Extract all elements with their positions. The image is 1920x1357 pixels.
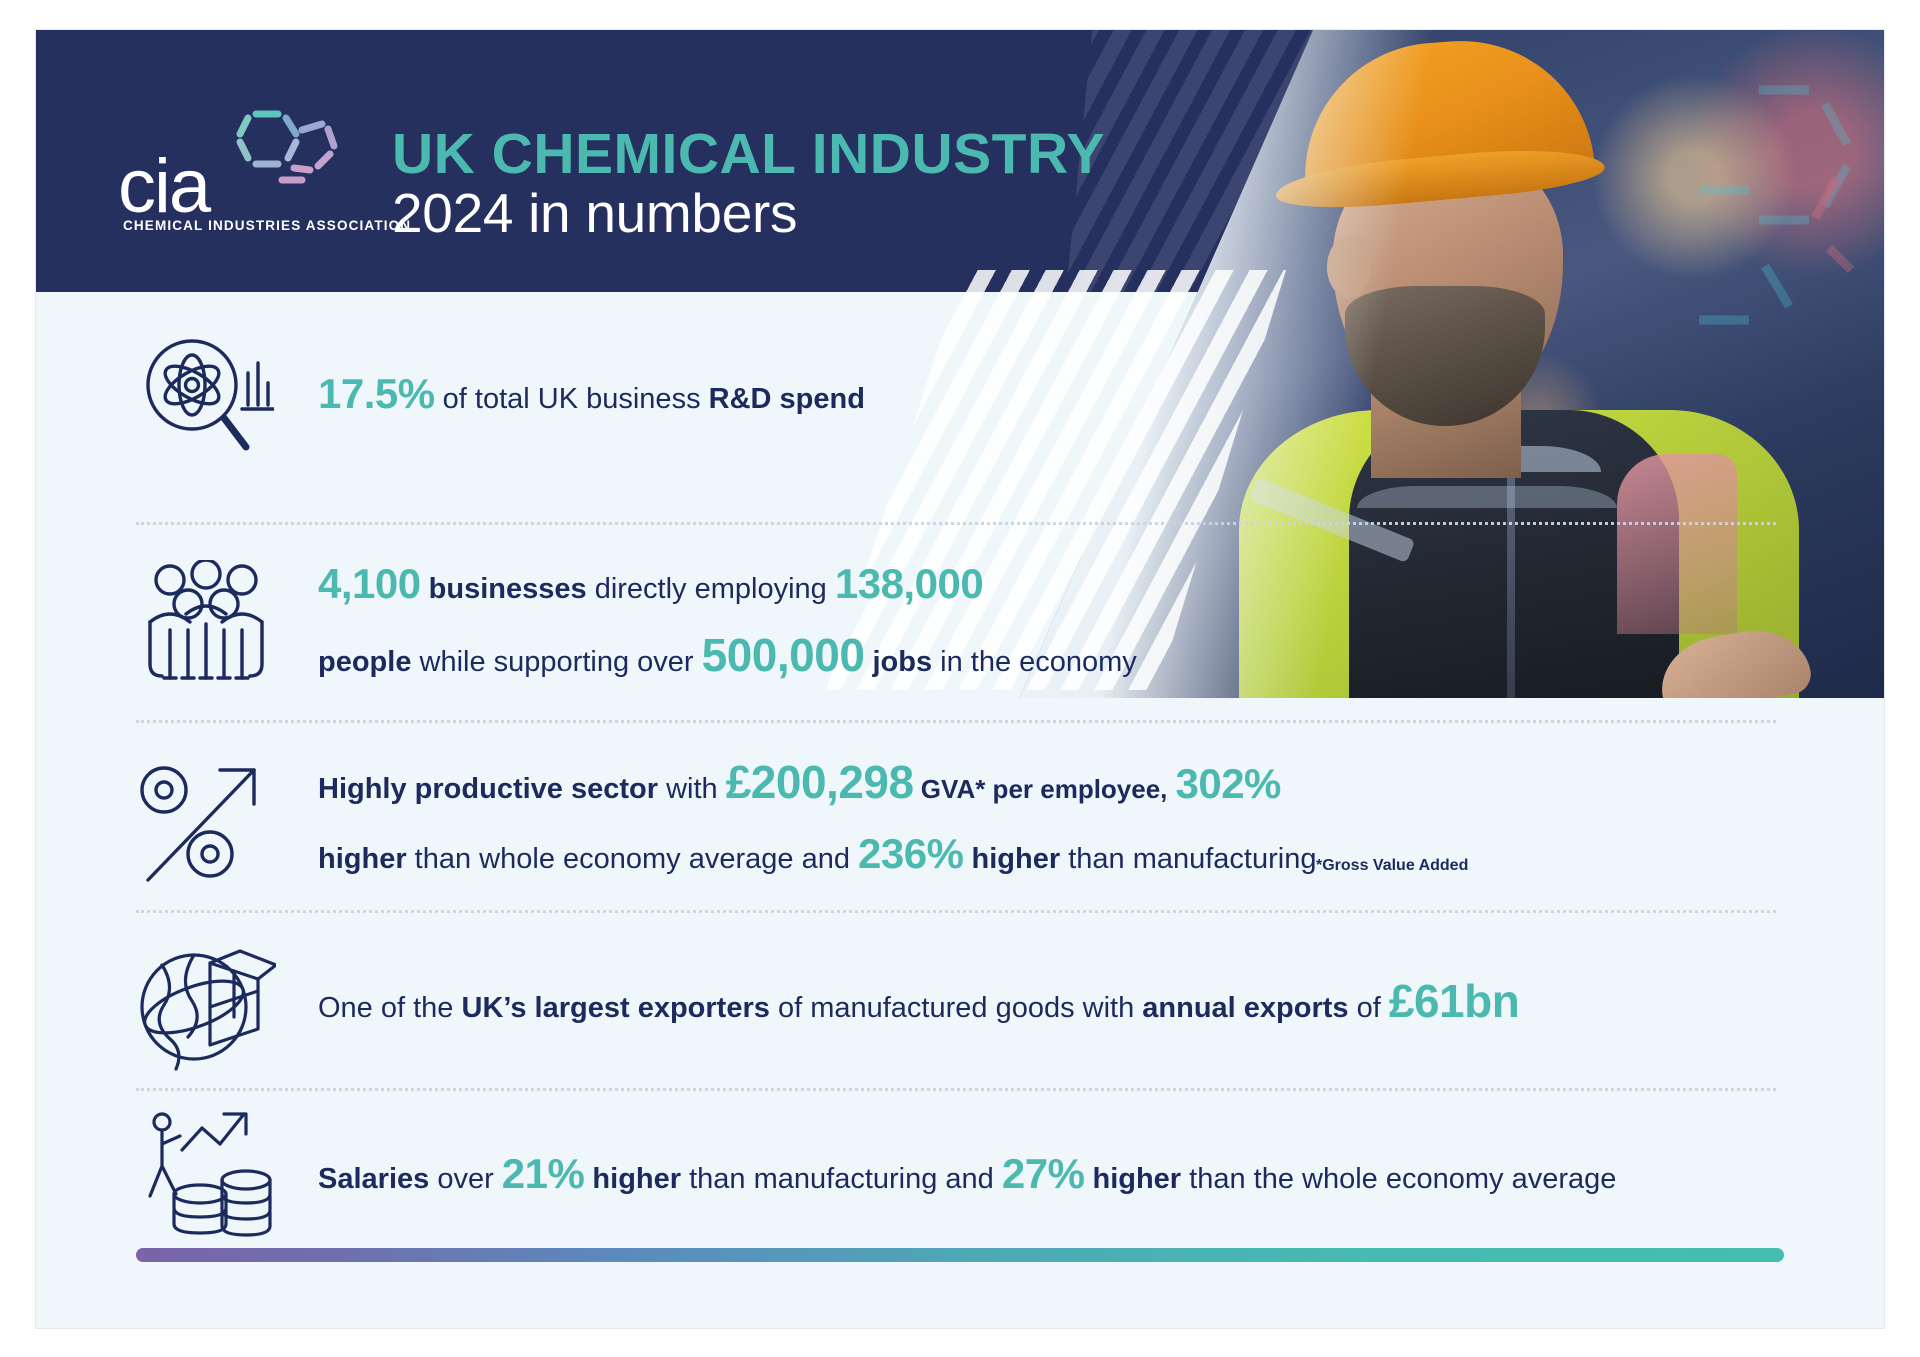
- stat-label-rnd-regular: of total UK business: [435, 383, 709, 415]
- cia-wordmark: cia: [118, 149, 209, 225]
- divider-1: [136, 522, 1776, 527]
- divider-4: [136, 1088, 1776, 1093]
- stat-value-employees: 138,000: [835, 560, 983, 607]
- stat-label-whole-economy-avg: than the whole economy average: [1181, 1163, 1616, 1195]
- stat-value-supported-jobs: 500,000: [702, 629, 865, 681]
- infographic-canvas: cia CHEMICAL INDUSTRIES ASSOCIATION UK C…: [36, 30, 1884, 1328]
- globe-parcel-export-icon: [136, 940, 276, 1080]
- stat-label-higher-2: higher: [963, 843, 1060, 875]
- cia-logo-subtitle: CHEMICAL INDUSTRIES ASSOCIATION: [123, 218, 411, 233]
- stat-text-productivity-line2: higher than whole economy average and 23…: [318, 820, 1316, 888]
- stat-label-higher-mfg: higher: [584, 1163, 681, 1195]
- stat-value-gva: £200,298: [726, 756, 914, 808]
- stat-label-higher-economy: higher: [1084, 1163, 1181, 1195]
- magnifier-atom-chart-icon: [136, 330, 276, 460]
- stat-label-productive-sector: Highly productive sector: [318, 773, 658, 805]
- cia-logo: cia CHEMICAL INDUSTRIES ASSOCIATION: [118, 102, 358, 237]
- stat-value-exports: £61bn: [1389, 975, 1519, 1027]
- stat-text-productivity-line1: Highly productive sector with £200,298 G…: [318, 745, 1316, 820]
- stat-row-employment: 4,100 businesses directly employing 138,…: [36, 550, 1884, 700]
- stat-label-rnd-bold: R&D spend: [709, 383, 865, 415]
- stat-text-employment-line1: 4,100 businesses directly employing 138,…: [318, 550, 1137, 618]
- stat-label-people: people: [318, 646, 411, 678]
- hexagon-molecule-icon: [226, 102, 346, 194]
- footer-gradient-bar: [136, 1248, 1784, 1262]
- stat-label-over: over: [429, 1163, 502, 1195]
- stat-text-rnd: 17.5% of total UK business R&D spend: [318, 360, 865, 428]
- stat-label-manufacturing: than manufacturing: [1060, 843, 1316, 875]
- stat-value-236: 236%: [858, 830, 963, 877]
- stat-label-with: with: [658, 773, 726, 805]
- stat-label-whole-economy: than whole economy average and: [407, 843, 858, 875]
- stat-text-exports: One of the UK’s largest exporters of man…: [318, 964, 1519, 1039]
- stat-label-higher-1: higher: [318, 843, 407, 875]
- stat-label-largest-exporters: UK’s largest exporters: [462, 992, 770, 1024]
- stat-label-one-of: One of the: [318, 992, 462, 1024]
- page-subtitle: 2024 in numbers: [392, 186, 797, 241]
- salary-growth-coins-icon: [136, 1108, 276, 1248]
- people-group-icon: [136, 554, 276, 694]
- stat-label-jobs: jobs: [864, 646, 932, 678]
- stat-label-of: of: [1349, 992, 1389, 1024]
- divider-3: [136, 910, 1776, 915]
- stat-label-than-manufacturing: than manufacturing and: [681, 1163, 1002, 1195]
- divider-2: [136, 720, 1776, 725]
- stat-value-businesses: 4,100: [318, 560, 421, 607]
- stat-row-exports: One of the UK’s largest exporters of man…: [36, 930, 1884, 1090]
- stat-label-annual-exports: annual exports: [1142, 992, 1348, 1024]
- stat-text-productivity: Highly productive sector with £200,298 G…: [318, 745, 1316, 888]
- stat-row-salaries: Salaries over 21% higher than manufactur…: [36, 1100, 1884, 1260]
- gva-footnote: *Gross Value Added: [1316, 857, 1468, 875]
- stat-text-salaries: Salaries over 21% higher than manufactur…: [318, 1140, 1616, 1208]
- stat-value-21: 21%: [502, 1150, 585, 1197]
- stat-label-supporting: while supporting over: [411, 646, 701, 678]
- stat-value-27: 27%: [1002, 1150, 1085, 1197]
- stat-label-economy: in the economy: [932, 646, 1137, 678]
- stat-text-employment: 4,100 businesses directly employing 138,…: [318, 550, 1137, 693]
- stat-label-gva-per-employee: GVA* per employee,: [914, 774, 1168, 804]
- stat-text-employment-line2: people while supporting over 500,000 job…: [318, 618, 1137, 693]
- stat-row-rnd: 17.5% of total UK business R&D spend: [36, 330, 1884, 460]
- stat-row-productivity: Highly productive sector with £200,298 G…: [36, 745, 1884, 920]
- stat-label-businesses: businesses: [421, 573, 587, 605]
- stat-label-employing: directly employing: [587, 573, 835, 605]
- productivity-arrow-icon: [136, 753, 276, 893]
- stat-value-302: 302%: [1175, 760, 1280, 807]
- page-title: UK CHEMICAL INDUSTRY: [392, 126, 1105, 183]
- stat-label-salaries: Salaries: [318, 1163, 429, 1195]
- stat-value-rnd: 17.5%: [318, 370, 435, 417]
- stat-label-manufactured-goods: of manufactured goods with: [770, 992, 1142, 1024]
